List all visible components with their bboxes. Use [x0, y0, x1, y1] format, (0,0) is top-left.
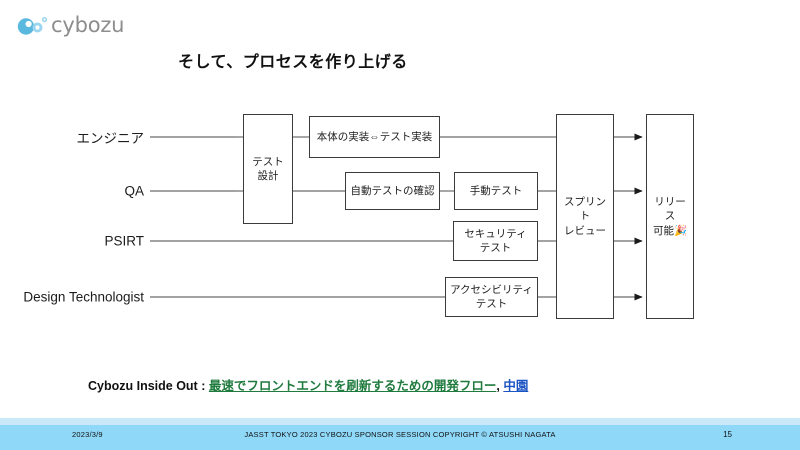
page-title: そして、プロセスを作り上げる	[178, 48, 408, 72]
node-releasable: リリース 可能🎉	[646, 114, 694, 319]
node-impl-test-label: 本体の実装⇔テスト実装	[314, 130, 436, 144]
footer-accent-band	[0, 418, 800, 425]
footer-page-number: 15	[723, 430, 732, 439]
reference-prefix: Cybozu Inside Out :	[88, 379, 209, 393]
node-test-design: テスト 設計	[243, 114, 293, 224]
node-releasable-line1: リリース	[647, 195, 693, 223]
node-accessibility-test-line1: アクセシビリティ	[447, 283, 536, 297]
footer-copyright: JASST TOKYO 2023 CYBOZU SPONSOR SESSION …	[0, 430, 800, 439]
node-auto-test-check: 自動テストの確認	[345, 172, 440, 210]
node-impl-test: 本体の実装⇔テスト実装	[309, 116, 440, 158]
node-releasable-line2: 可能🎉	[647, 224, 693, 238]
cybozu-logo-icon	[16, 14, 50, 36]
slide: cybozu そして、プロセスを作り上げる	[0, 0, 800, 450]
reference-line: Cybozu Inside Out : 最速でフロントエンドを刷新するための開発…	[88, 375, 528, 394]
node-manual-test: 手動テスト	[454, 172, 538, 210]
node-auto-test-check-label: 自動テストの確認	[348, 184, 438, 198]
node-security-test-line1: セキュリティ	[461, 227, 529, 241]
role-label-design-technologist: Design Technologist	[23, 290, 144, 305]
reference-author-link[interactable]: 中園	[503, 379, 528, 393]
reference-link[interactable]: 最速でフロントエンドを刷新するための開発フロー	[209, 379, 497, 393]
role-label-engineer: エンジニア	[77, 127, 145, 147]
role-label-qa: QA	[124, 184, 144, 199]
node-sprint-review-line2: レビュー	[557, 224, 613, 238]
node-accessibility-test-line2: テスト	[447, 297, 536, 311]
role-label-psirt: PSIRT	[104, 234, 144, 249]
node-security-test: セキュリティ テスト	[453, 221, 538, 261]
node-test-design-line2: 設計	[249, 169, 287, 183]
cybozu-logo: cybozu	[16, 12, 124, 38]
node-manual-test-label: 手動テスト	[467, 184, 526, 198]
node-test-design-line1: テスト	[249, 155, 287, 169]
node-security-test-line2: テスト	[461, 241, 529, 255]
node-accessibility-test: アクセシビリティ テスト	[445, 277, 538, 317]
cybozu-wordmark: cybozu	[51, 15, 124, 36]
node-sprint-review-line1: スプリント	[557, 195, 613, 223]
process-diagram: エンジニア QA PSIRT Design Technologist テスト 設…	[0, 100, 800, 340]
node-sprint-review: スプリント レビュー	[556, 114, 614, 319]
